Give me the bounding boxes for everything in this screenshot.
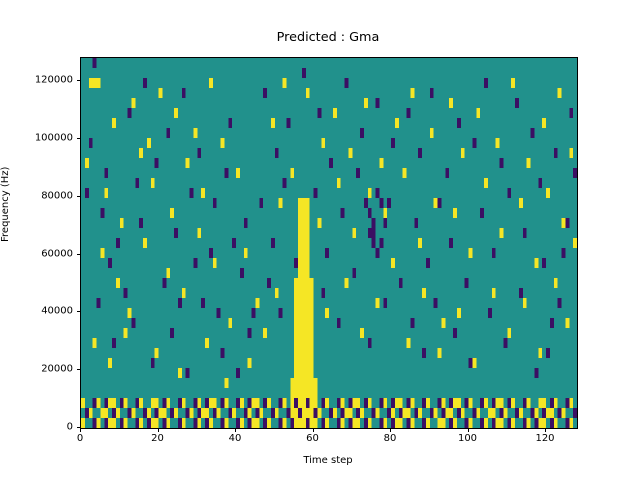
y-tick-label: 100000: [0, 132, 73, 143]
chart-title: Predicted : Gma: [80, 30, 576, 46]
x-tick-label: 100: [458, 433, 477, 444]
x-tick-label: 0: [77, 433, 83, 444]
heatmap-plot-area: [80, 57, 578, 429]
spectrogram-heatmap: [81, 58, 577, 428]
y-tick-label: 20000: [0, 364, 73, 375]
x-axis-label: Time step: [80, 455, 576, 466]
x-tick-label: 80: [384, 433, 397, 444]
y-tick-label: 80000: [0, 190, 73, 201]
y-tick-label: 40000: [0, 306, 73, 317]
matplotlib-figure: Predicted : Gma Frequency (Hz) Time step…: [0, 0, 640, 480]
x-tick-label: 60: [306, 433, 319, 444]
x-tick-label: 120: [535, 433, 554, 444]
x-tick-label: 20: [151, 433, 164, 444]
y-tick-label: 60000: [0, 248, 73, 259]
x-tick-label: 40: [229, 433, 242, 444]
y-tick-label: 0: [0, 422, 73, 433]
y-tick-label: 120000: [0, 75, 73, 86]
y-axis-label: Frequency (Hz): [0, 167, 11, 242]
